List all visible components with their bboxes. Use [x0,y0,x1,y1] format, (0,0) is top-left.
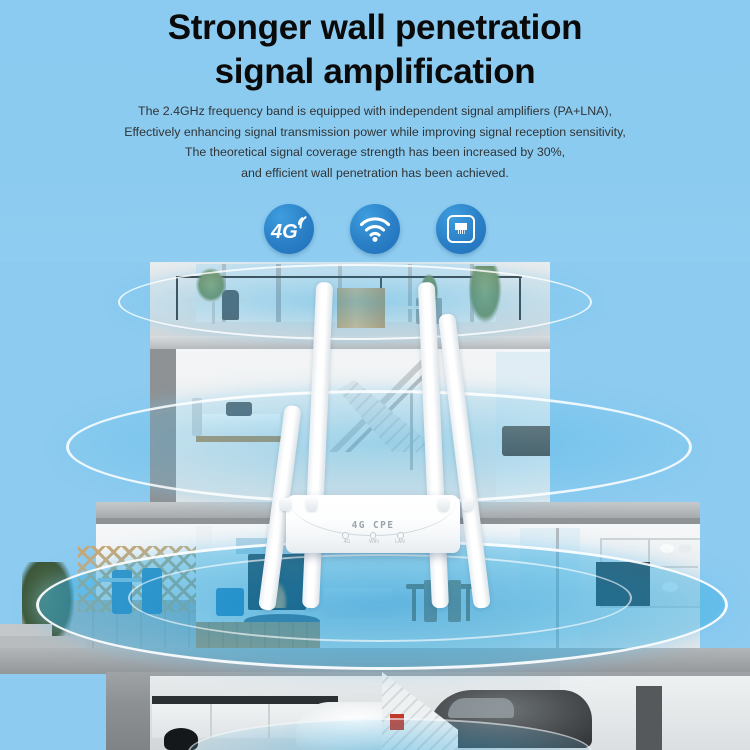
antenna-hinge-2 [306,498,317,511]
signal-ring-main-inner [128,554,632,642]
antenna-hinge-1 [280,498,291,511]
feature-icon-row: 4G [0,204,750,254]
kitchen-dishware [678,544,692,553]
garage-cabinet-line [210,704,212,738]
product-feature-banner: Stronger wall penetration signal amplifi… [0,0,750,750]
page-title: Stronger wall penetration signal amplifi… [0,6,750,94]
router-led-row [286,532,460,539]
description-text: The 2.4GHz frequency band is equipped wi… [0,101,750,183]
patio-step [0,624,52,636]
antenna-hinge-4 [462,498,473,511]
led-lan [397,532,404,539]
router-led-labels: 4G WiFi LAN [286,539,460,545]
title-line-2: signal amplification [0,50,750,94]
led-wifi [370,532,377,539]
ethernet-port-icon [436,204,486,254]
description-line-1: The 2.4GHz frequency band is equipped wi… [0,101,750,122]
description-line-4: and efficient wall penetration has been … [0,163,750,184]
garage-door-opening [636,686,662,750]
led-label-lan: LAN [395,539,403,545]
antenna-hinge-3 [438,498,449,511]
led-label-wifi: WiFi [369,539,377,545]
description-line-3: The theoretical signal coverage strength… [0,142,750,163]
description-line-2: Effectively enhancing signal transmissio… [0,122,750,143]
4g-signal-icon: 4G [264,204,314,254]
garage-car-window [448,698,514,718]
router-brand-label: 4G CPE [286,520,460,531]
svg-text:4G: 4G [270,221,298,243]
wifi-icon [350,204,400,254]
scene-sky-bottom-left [0,674,106,750]
signal-ring-middle [66,390,692,504]
patio-step [0,636,86,648]
led-label-4g: 4G [343,539,351,545]
garage-counter [152,696,338,704]
kitchen-dishware [660,544,674,553]
title-line-1: Stronger wall penetration [0,6,750,50]
led-4g [342,532,349,539]
signal-ring-top [118,264,592,340]
